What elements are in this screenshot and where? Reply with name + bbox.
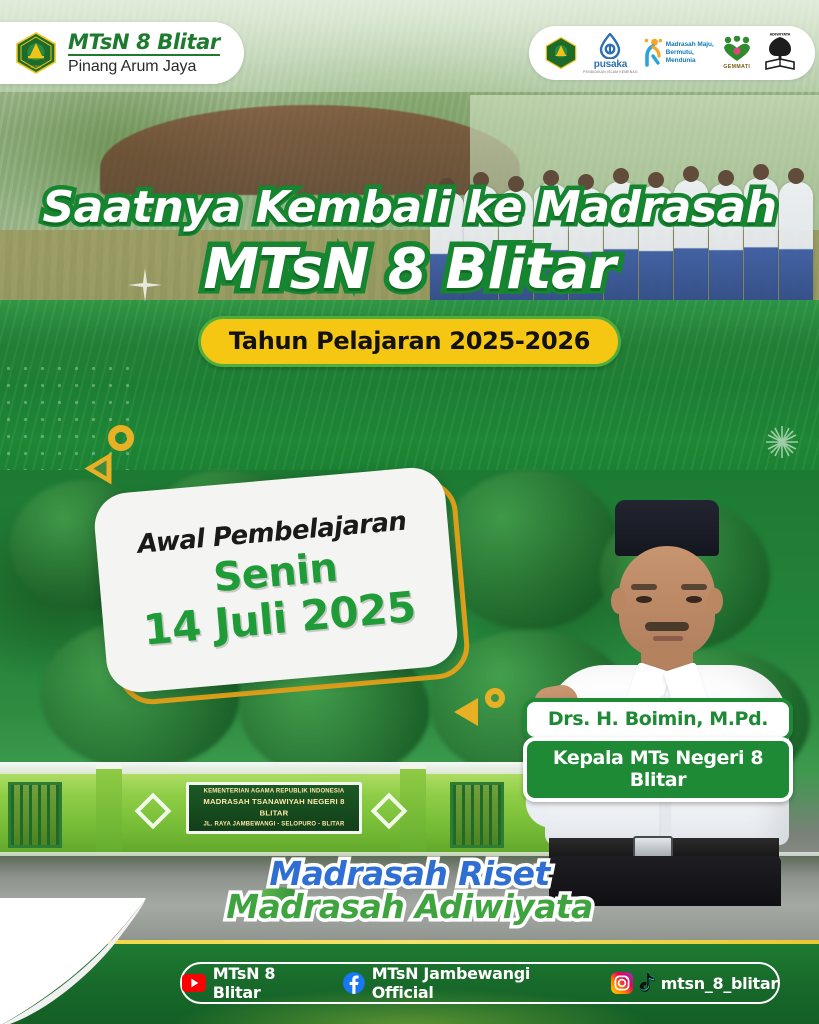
gemmati-label: GEMMATI [723, 64, 750, 70]
kemenag-seal-icon: BLITAR [14, 31, 58, 75]
school-tagline: Pinang Arum Jaya [68, 59, 220, 75]
social-links-bar: MTsN 8 Blitar MTsN Jambewangi Official [180, 962, 780, 1004]
youtube-icon [182, 974, 206, 992]
tiktok-icon [637, 972, 657, 994]
gate-sign-ministry: KEMENTERIAN AGAMA REPUBLIK INDONESIA [204, 788, 345, 795]
gate-fence [450, 782, 504, 848]
decoration-triangle [85, 453, 112, 485]
school-name: MTsN 8 Blitar [68, 32, 220, 56]
madrasah-maju-logo: Madrasah Maju, Bermutu, Mendunia [643, 38, 714, 68]
running-person-icon [643, 38, 663, 68]
social-link-instagram-tiktok[interactable]: mtsn_8_blitar [611, 972, 778, 994]
date-card: Awal Pembelajaran Senin 14 Juli 2025 [92, 465, 460, 695]
poster-canvas: KEMENTERIAN AGAMA REPUBLIK INDONESIA MAD… [0, 0, 819, 1024]
principal-nameplate: Drs. H. Boimin, M.Pd. Kepala MTs Negeri … [523, 698, 793, 802]
adiwiyata-tree-book-icon: ADIWIYATA [760, 33, 800, 73]
hero-title-line1: Saatnya Kembali ke Madrasah [0, 182, 819, 233]
decoration-triangle [454, 698, 478, 726]
tiktok-handle: mtsn_8_blitar [661, 974, 778, 993]
facebook-icon [343, 972, 365, 994]
svg-text:BLITAR: BLITAR [31, 65, 43, 69]
school-gate-signboard: KEMENTERIAN AGAMA REPUBLIK INDONESIA MAD… [186, 782, 362, 834]
madrasah-maju-line2: Bermutu, [666, 49, 694, 56]
gate-sign-title: MADRASAH TSANAWIYAH NEGERI 8 BLITAR [203, 797, 344, 818]
youtube-handle: MTsN 8 Blitar [213, 964, 327, 1002]
gate-pillar [96, 762, 122, 858]
gate-sign-address: JL. RAYA JAMBEWANGI - SELOPURO - BLITAR [203, 821, 344, 828]
header-school-identity: BLITAR MTsN 8 Blitar Pinang Arum Jaya [0, 22, 244, 84]
academic-year-badge: Tahun Pelajaran 2025-2026 [198, 316, 621, 367]
adiwiyata-label: ADIWIYATA [769, 33, 790, 37]
gate-fence [8, 782, 62, 848]
gemmati-family-heart-icon [719, 36, 755, 64]
social-link-facebook[interactable]: MTsN Jambewangi Official [343, 964, 595, 1002]
gemmati-logo: GEMMATI [719, 36, 755, 70]
pusaka-label: pusaka [594, 59, 627, 70]
pusaka-drop-icon [598, 33, 622, 59]
school-gate-wall-cap [0, 762, 560, 774]
madrasah-maju-line3: Mendunia [666, 57, 696, 64]
date-card-date: 14 Juli 2025 [141, 582, 417, 655]
hero-title-block: Saatnya Kembali ke Madrasah MTsN 8 Blita… [0, 182, 819, 367]
principal-name: Drs. H. Boimin, M.Pd. [523, 698, 793, 741]
sparkle-icon [764, 424, 800, 460]
facebook-handle: MTsN Jambewangi Official [372, 964, 595, 1002]
pusaka-logo: pusaka PENDIDIKAN ISLAM KEMENAG [583, 33, 638, 74]
principal-position: Kepala MTs Negeri 8 Blitar [523, 737, 793, 802]
kemenag-logo [544, 36, 578, 70]
social-link-youtube[interactable]: MTsN 8 Blitar [182, 964, 327, 1002]
madrasah-maju-line1: Madrasah Maju, [666, 41, 714, 48]
hero-title-line2: MTsN 8 Blitar [0, 237, 819, 302]
adiwiyata-logo: ADIWIYATA [760, 33, 800, 73]
decoration-circle [485, 688, 505, 708]
pusaka-sublabel: PENDIDIKAN ISLAM KEMENAG [583, 70, 638, 74]
page-curl-decoration [0, 898, 146, 1024]
header-partner-logos: pusaka PENDIDIKAN ISLAM KEMENAG Madrasah… [529, 26, 815, 80]
instagram-icon [611, 972, 633, 994]
decoration-circle [108, 425, 134, 451]
